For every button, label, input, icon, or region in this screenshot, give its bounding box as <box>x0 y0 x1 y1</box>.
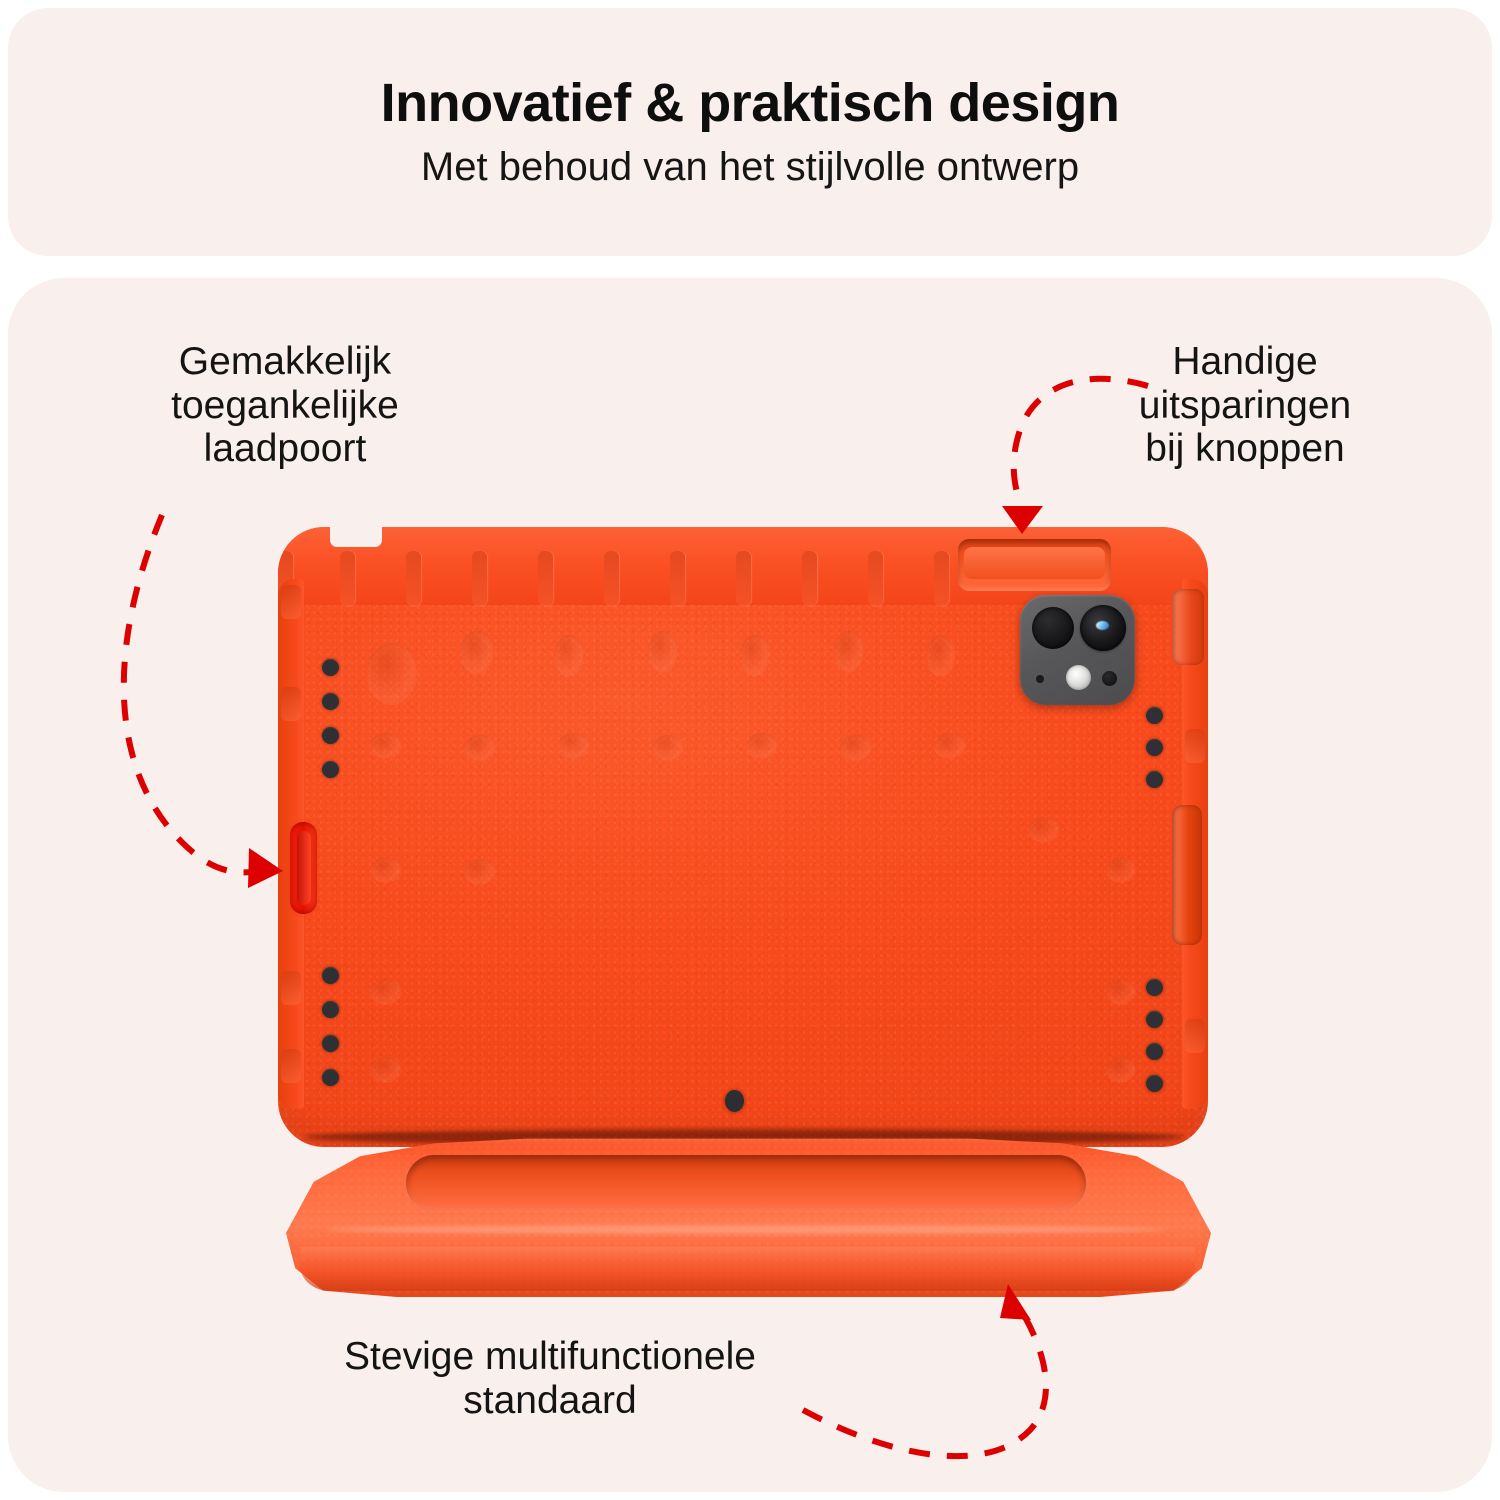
annotation-label-stand: Stevige multifunctionele standaard <box>250 1335 850 1422</box>
page-subtitle: Met behoud van het stijlvolle ontwerp <box>421 145 1079 189</box>
speaker-hole <box>322 1035 339 1052</box>
foam-dimple <box>370 733 402 759</box>
volume-button-cutout <box>1172 805 1202 945</box>
speaker-hole <box>322 1001 339 1018</box>
stand-front-edge <box>300 1247 1195 1291</box>
case-body <box>278 527 1208 1147</box>
annotation-label-button-cutouts: Handige uitsparingen bij knoppen <box>1030 340 1460 471</box>
camera-mic-hole <box>1036 675 1044 683</box>
top-ridge <box>868 551 883 607</box>
top-notch <box>330 527 382 547</box>
page-title: Innovatief & praktisch design <box>381 75 1120 132</box>
edge-groove <box>281 585 301 619</box>
edge-groove <box>1185 1019 1205 1053</box>
top-ridge <box>670 551 685 607</box>
foam-dimple <box>926 635 956 677</box>
speaker-hole <box>1146 979 1163 996</box>
foam-dimple <box>464 859 496 885</box>
top-ridge <box>472 551 487 607</box>
speaker-hole <box>322 761 339 778</box>
product-image-tablet-case <box>278 527 1208 1147</box>
speaker-hole <box>322 727 339 744</box>
infographic-page: Innovatief & praktisch design Met behoud… <box>0 0 1500 1500</box>
foam-dimple <box>834 631 864 673</box>
edge-groove <box>1185 729 1205 763</box>
foam-dimple <box>464 735 496 761</box>
foldable-stand-handle <box>286 1129 1211 1314</box>
camera-lens-icon <box>1032 607 1074 649</box>
top-button-cutout <box>958 539 1111 591</box>
speaker-hole <box>1146 1011 1163 1028</box>
top-ridge <box>802 551 817 607</box>
foam-dimple <box>370 1057 402 1083</box>
top-ridge <box>406 551 421 607</box>
camera-sensor-dot <box>1102 671 1117 686</box>
foam-dimple <box>840 735 872 761</box>
speaker-hole <box>322 1069 339 1086</box>
foam-dimple <box>558 733 590 759</box>
camera-flash-icon <box>1066 665 1091 690</box>
foam-dimple <box>1106 857 1136 883</box>
lens-glint <box>1096 621 1109 630</box>
edge-groove <box>281 687 301 721</box>
top-ridge <box>604 551 619 607</box>
edge-groove <box>281 1049 301 1083</box>
edge-groove <box>281 971 301 1005</box>
foam-dimple <box>934 733 966 759</box>
top-ridge <box>538 551 553 607</box>
foam-dimple <box>366 643 418 705</box>
foam-dimple <box>370 979 402 1005</box>
foam-dimple <box>746 733 778 759</box>
annotation-label-charging-port: Gemakkelijk toegankelijke laadpoort <box>70 340 500 471</box>
speaker-hole <box>322 693 339 710</box>
speaker-hole <box>1146 1075 1163 1092</box>
foam-dimple <box>1106 979 1136 1005</box>
speaker-hole <box>1146 707 1163 724</box>
stand-highlight <box>326 1225 1166 1234</box>
foam-dimple <box>1028 817 1060 843</box>
speaker-hole <box>1146 1043 1163 1060</box>
back-microphone-hole <box>725 1090 744 1112</box>
foam-dimple <box>554 635 584 677</box>
speaker-hole <box>1146 771 1163 788</box>
stand-grip-slot <box>406 1155 1086 1211</box>
top-ridge <box>736 551 751 607</box>
foam-dimple <box>648 631 678 673</box>
foam-dimple <box>652 735 684 761</box>
power-button-cutout <box>1172 589 1204 665</box>
camera-module <box>1020 595 1135 705</box>
foam-dimple <box>370 857 402 883</box>
speaker-hole <box>322 967 339 984</box>
top-ridge <box>340 551 355 607</box>
speaker-hole <box>1146 739 1163 756</box>
top-ridge <box>934 551 949 607</box>
foam-dimple <box>1106 1057 1136 1083</box>
speaker-hole <box>322 659 339 676</box>
charging-port-cutout <box>290 822 317 914</box>
foam-dimple <box>740 635 770 677</box>
header-card: Innovatief & praktisch design Met behoud… <box>8 8 1492 256</box>
foam-dimple <box>460 631 494 675</box>
